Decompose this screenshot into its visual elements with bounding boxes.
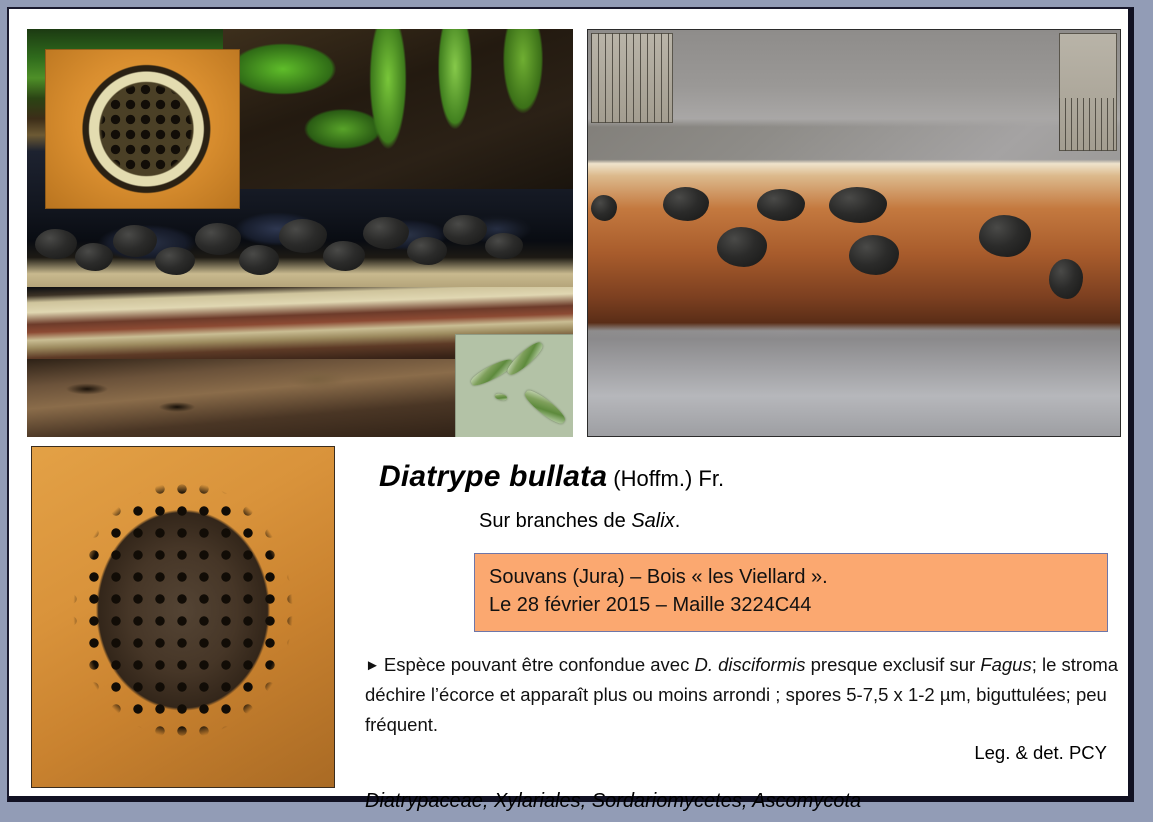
notes-paragraph: ►Espèce pouvant être confondue avec D. d… [365, 650, 1125, 740]
right-triangle-icon: ► [365, 657, 380, 674]
substrate-line: Sur branches de Salix. [479, 510, 1129, 533]
slide-sheet: Diatrype bullata(Hoffm.) Fr. Sur branche… [7, 7, 1134, 802]
scale-ticks [1059, 98, 1117, 151]
stroma-cross-section-photo [45, 49, 240, 209]
ostioles-pattern [31, 446, 335, 788]
locality-line-2: Le 28 février 2015 – Maille 3224C44 [489, 592, 1093, 620]
perithecia-pores [45, 49, 240, 209]
leaf-litter-photo [223, 29, 573, 189]
substrate-host: Salix [631, 510, 674, 532]
collector-credit: Leg. & det. PCY [357, 742, 1107, 764]
stroma-closeup-photo [31, 446, 335, 788]
spores-microscopy-photo [455, 334, 573, 437]
micrometer-scale-inset-right [1059, 33, 1117, 151]
micrometer-scale-inset-left [591, 33, 673, 123]
page-title: Diatrype bullata(Hoffm.) Fr. [379, 460, 1129, 494]
left-photo-composite [27, 29, 573, 437]
notes-host-fagus: Fagus [980, 654, 1031, 675]
substrate-suffix: . [675, 510, 681, 532]
notes-segment-1: Espèce pouvant être confondue avec [384, 654, 695, 675]
substrate-prefix: Sur branches de [479, 510, 631, 532]
scientific-name: Diatrype bullata [379, 460, 607, 493]
taxon-authority: (Hoffm.) Fr. [613, 466, 724, 491]
scale-ticks [591, 33, 673, 123]
taxonomy-line: Diatrypaceae, Xylariales, Sordariomycete… [365, 790, 1129, 813]
notes-species-disciformis: D. disciformis [694, 654, 805, 675]
locality-line-1: Souvans (Jura) – Bois « les Viellard ». [489, 564, 1093, 592]
stromata-cluster [27, 207, 573, 299]
description-panel: Diatrype bullata(Hoffm.) Fr. Sur branche… [357, 446, 1129, 813]
locality-box: Souvans (Jura) – Bois « les Viellard ». … [474, 553, 1108, 632]
branch-closeup-photo [587, 29, 1121, 437]
notes-segment-3: presque exclusif sur [805, 654, 980, 675]
